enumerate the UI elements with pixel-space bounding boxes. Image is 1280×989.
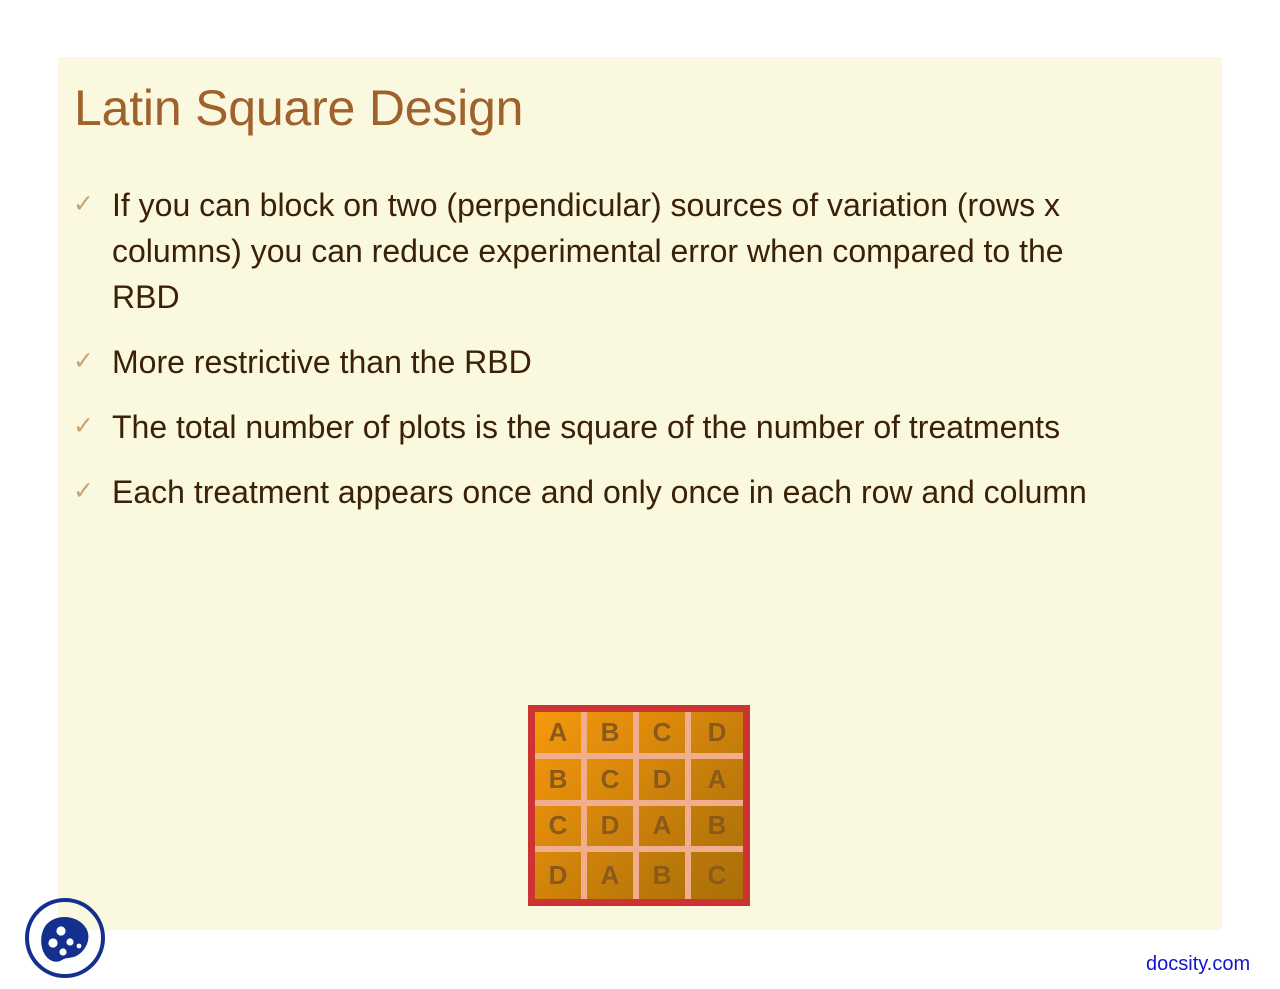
list-item: ✓ More restrictive than the RBD <box>70 339 1135 385</box>
latin-square-cell: C <box>587 759 639 806</box>
latin-square-cell: C <box>691 852 743 899</box>
latin-square-cell: B <box>691 806 743 853</box>
checkmark-icon: ✓ <box>70 182 112 227</box>
latin-square-cell: C <box>639 712 691 759</box>
latin-square-cell: D <box>691 712 743 759</box>
latin-square-cell: D <box>639 759 691 806</box>
checkmark-icon: ✓ <box>70 404 112 449</box>
checkmark-icon: ✓ <box>70 469 112 514</box>
latin-square-grid: A B C D B C D A C D A B D A B C <box>535 712 743 899</box>
latin-square-cell: A <box>535 712 587 759</box>
bullet-list: ✓ If you can block on two (perpendicular… <box>70 182 1135 534</box>
list-item-text: Each treatment appears once and only onc… <box>112 469 1135 515</box>
docsity-logo-icon <box>22 895 108 981</box>
checkmark-icon: ✓ <box>70 339 112 384</box>
list-item: ✓ The total number of plots is the squar… <box>70 404 1135 450</box>
latin-square-cell: A <box>639 806 691 853</box>
list-item: ✓ If you can block on two (perpendicular… <box>70 182 1135 320</box>
latin-square-cell: A <box>587 852 639 899</box>
latin-square-cell: D <box>535 852 587 899</box>
latin-square-cell: B <box>639 852 691 899</box>
list-item-text: The total number of plots is the square … <box>112 404 1135 450</box>
latin-square-cell: B <box>587 712 639 759</box>
list-item-text: If you can block on two (perpendicular) … <box>112 182 1135 320</box>
page-title: Latin Square Design <box>74 81 523 136</box>
docsity-url-label: docsity.com <box>1146 953 1250 976</box>
list-item-text: More restrictive than the RBD <box>112 339 1135 385</box>
latin-square-cell: B <box>535 759 587 806</box>
latin-square-cell: A <box>691 759 743 806</box>
latin-square-cell: D <box>587 806 639 853</box>
latin-square-figure: A B C D B C D A C D A B D A B C <box>528 705 750 906</box>
latin-square-cell: C <box>535 806 587 853</box>
list-item: ✓ Each treatment appears once and only o… <box>70 469 1135 515</box>
